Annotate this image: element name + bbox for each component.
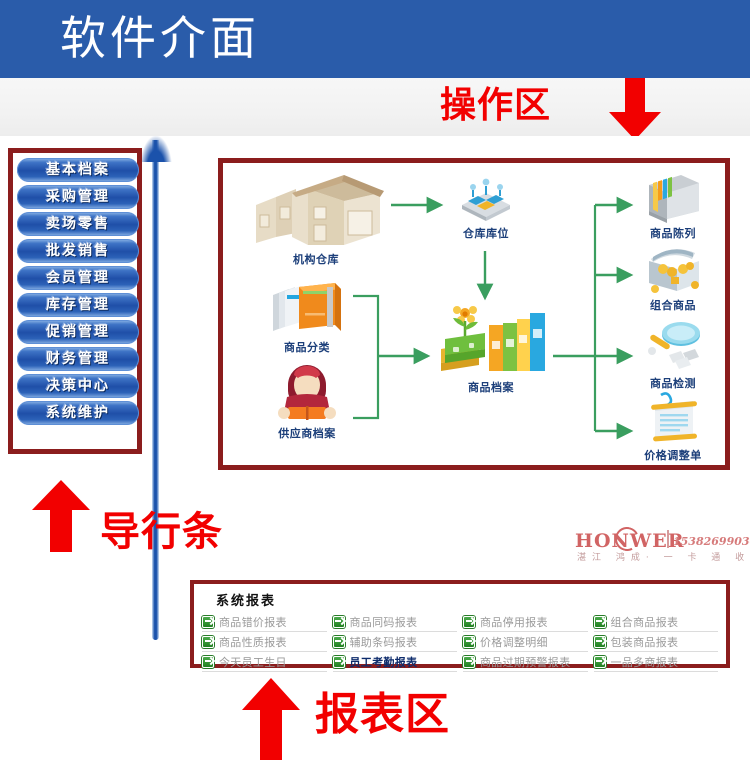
report-link[interactable]: 商品过期预警报表	[463, 652, 588, 672]
arrow-up-icon	[30, 480, 92, 552]
brand-watermark: HONWER 15382699030电话 湛江 鸿成· 一 卡 通 收 银	[575, 528, 743, 564]
report-link[interactable]: 商品性质报表	[202, 632, 327, 652]
arrow-right-icon	[594, 656, 606, 668]
node-combo[interactable]: 组合商品	[627, 241, 719, 313]
node-product-archive[interactable]: 商品档案	[429, 303, 553, 395]
node-supplier[interactable]: 供应商档案	[259, 361, 355, 441]
arrow-up-icon	[240, 678, 302, 760]
node-label: 仓库库位	[445, 225, 527, 241]
sidebar-item-label: 会员管理	[17, 266, 139, 290]
report-link-label: 一品多商报表	[611, 654, 679, 670]
report-section-title: 系统报表	[202, 588, 718, 612]
node-category[interactable]: 商品分类	[261, 281, 353, 355]
sidebar-item-system[interactable]: 系统维护	[17, 401, 139, 425]
sidebar-item-label: 促销管理	[17, 320, 139, 344]
node-label: 商品分类	[261, 339, 353, 355]
report-link[interactable]: 组合商品报表	[594, 612, 719, 632]
arrow-down-icon	[605, 78, 665, 140]
sidebar-item-label: 财务管理	[17, 347, 139, 371]
report-link-label: 价格调整明细	[480, 634, 548, 650]
arrow-right-icon	[202, 616, 214, 628]
report-link-label: 辅助条码报表	[350, 634, 418, 650]
divider-cap	[140, 136, 172, 162]
sidebar-item-label: 批发销售	[17, 239, 139, 263]
sidebar-item-promotion[interactable]: 促销管理	[17, 320, 139, 344]
magnifier-icon	[641, 321, 705, 373]
sidebar-item-decision[interactable]: 决策中心	[17, 374, 139, 398]
report-link[interactable]: 一品多商报表	[594, 652, 719, 672]
annotation-nav-bar: 导行条	[100, 510, 223, 554]
page-title: 软件介面	[60, 8, 260, 68]
sidebar-item-label: 决策中心	[17, 374, 139, 398]
sidebar-item-label: 基本档案	[17, 158, 139, 182]
arrow-right-icon	[594, 616, 606, 628]
node-label: 商品陈列	[627, 225, 719, 241]
node-label: 价格调整单	[623, 447, 723, 463]
report-link-label: 商品停用报表	[480, 614, 548, 630]
folder-files-icon	[269, 281, 345, 337]
brand-separator	[667, 530, 669, 548]
report-link[interactable]: 商品同码报表	[333, 612, 458, 632]
annotation-operation-area: 操作区	[440, 86, 551, 126]
report-link[interactable]: 商品错价报表	[202, 612, 327, 632]
report-link[interactable]: 商品停用报表	[463, 612, 588, 632]
sidebar-item-member[interactable]: 会员管理	[17, 266, 139, 290]
operation-area-panel: 机构仓库 仓库库位	[218, 158, 730, 470]
sidebar-item-label: 系统维护	[17, 401, 139, 425]
screenshot-root: 软件介面 操作区 基本档案 采购管理 卖场零售 批发销售 会员管理 库存管理 促…	[0, 0, 750, 770]
node-label: 商品档案	[429, 379, 553, 395]
sidebar-item-finance[interactable]: 财务管理	[17, 347, 139, 371]
person-reading-icon	[274, 361, 340, 423]
report-link-active[interactable]: 员工考勤报表	[333, 652, 458, 672]
arrow-right-icon	[463, 636, 475, 648]
warehouse-building-icon	[248, 171, 384, 249]
arrow-right-icon	[202, 636, 214, 648]
report-link-label: 商品过期预警报表	[480, 654, 570, 670]
brand-tagline: 湛江 鸿成· 一 卡 通 收 银	[577, 550, 750, 563]
node-price-adjust[interactable]: 价格调整单	[623, 391, 723, 463]
shelf-books-icon	[641, 171, 705, 223]
sidebar-item-purchase[interactable]: 采购管理	[17, 185, 139, 209]
sidebar-nav: 基本档案 采购管理 卖场零售 批发销售 会员管理 库存管理 促销管理 财务管理 …	[8, 148, 142, 454]
node-label: 组合商品	[627, 297, 719, 313]
arrow-right-icon	[202, 656, 214, 668]
operation-diagram: 机构仓库 仓库库位	[223, 163, 725, 465]
node-inspection[interactable]: 商品检测	[627, 321, 719, 391]
sidebar-item-label: 卖场零售	[17, 212, 139, 236]
report-link[interactable]: 包装商品报表	[594, 632, 719, 652]
arrow-right-icon	[463, 616, 475, 628]
sidebar-item-inventory[interactable]: 库存管理	[17, 293, 139, 317]
node-warehouse[interactable]: 机构仓库	[241, 171, 391, 267]
node-label: 供应商档案	[259, 425, 355, 441]
binders-plant-icon	[435, 303, 547, 377]
node-display[interactable]: 商品陈列	[627, 171, 719, 241]
report-link[interactable]: 辅助条码报表	[333, 632, 458, 652]
report-link[interactable]: 价格调整明细	[463, 632, 588, 652]
arrow-right-icon	[463, 656, 475, 668]
treasure-chest-icon	[641, 241, 705, 295]
report-link-label: 商品错价报表	[219, 614, 287, 630]
report-link-label: 商品性质报表	[219, 634, 287, 650]
report-link[interactable]: 今天员工生日	[202, 652, 327, 672]
annotation-report-area: 报表区	[315, 690, 450, 740]
storage-bin-icon	[456, 175, 516, 223]
sidebar-item-label: 采购管理	[17, 185, 139, 209]
report-grid: 商品错价报表 商品同码报表 商品停用报表 组合商品报表 商品性质报表 辅助条码报…	[202, 612, 718, 672]
sidebar-item-label: 库存管理	[17, 293, 139, 317]
arrow-right-icon	[333, 636, 345, 648]
node-label: 机构仓库	[241, 251, 391, 267]
sidebar-item-basic-archive[interactable]: 基本档案	[17, 158, 139, 182]
scroll-pencil-icon	[643, 391, 703, 445]
report-area-panel: 系统报表 商品错价报表 商品同码报表 商品停用报表 组合商品报表 商品性质报表 …	[190, 580, 730, 668]
sidebar-item-retail[interactable]: 卖场零售	[17, 212, 139, 236]
brand-phone: 15382699030电话	[673, 533, 750, 549]
arrow-right-icon	[594, 636, 606, 648]
vertical-divider	[152, 140, 159, 640]
report-link-label: 商品同码报表	[350, 614, 418, 630]
node-storage-bin[interactable]: 仓库库位	[445, 175, 527, 241]
arrow-right-icon	[333, 656, 345, 668]
report-link-label: 员工考勤报表	[350, 654, 418, 670]
report-link-label: 今天员工生日	[219, 654, 287, 670]
report-link-label: 组合商品报表	[611, 614, 679, 630]
node-label: 商品检测	[627, 375, 719, 391]
sidebar-item-wholesale[interactable]: 批发销售	[17, 239, 139, 263]
arrow-right-icon	[333, 616, 345, 628]
report-link-label: 包装商品报表	[611, 634, 679, 650]
